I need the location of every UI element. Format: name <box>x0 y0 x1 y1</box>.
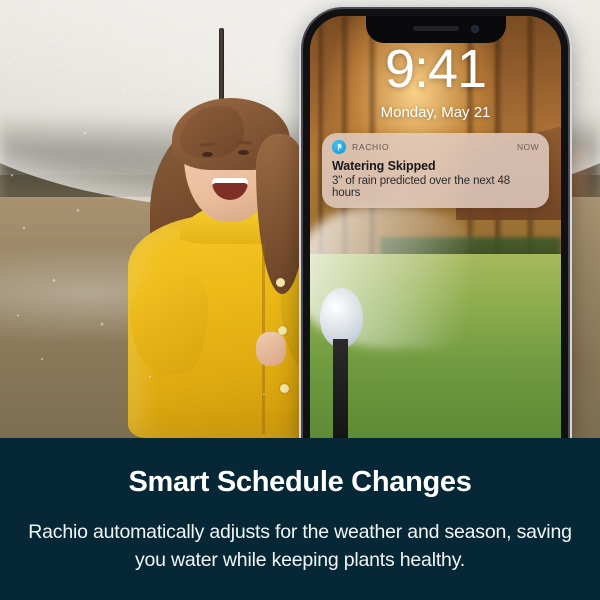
phone-notch <box>366 16 506 43</box>
lockscreen-date: Monday, May 21 <box>310 104 561 121</box>
notification-body: 3" of rain predicted over the next 48 ho… <box>332 175 539 199</box>
earpiece-speaker-icon <box>413 26 459 31</box>
coat-button <box>276 278 285 287</box>
rachio-droplet-icon <box>332 140 346 154</box>
footer-panel: Smart Schedule Changes Rachio automatica… <box>0 438 600 600</box>
notification-title: Watering Skipped <box>332 159 539 173</box>
promo-card: 9:41 Monday, May 21 RACHIO NOW Watering … <box>0 0 600 600</box>
lockscreen-time: 9:41 <box>310 42 561 96</box>
left-sleeve <box>130 274 208 374</box>
footer-title: Smart Schedule Changes <box>128 466 471 499</box>
eye-right <box>238 150 249 155</box>
phone-screen[interactable]: 9:41 Monday, May 21 RACHIO NOW Watering … <box>310 16 561 441</box>
coat-button <box>280 384 289 393</box>
front-camera-icon <box>471 25 479 33</box>
lamp-post <box>333 339 348 441</box>
notification-card[interactable]: RACHIO NOW Watering Skipped 3" of rain p… <box>322 133 549 208</box>
footer-body: Rachio automatically adjusts for the wea… <box>28 519 573 574</box>
notification-header: RACHIO NOW <box>332 140 539 154</box>
phone-mockup: 9:41 Monday, May 21 RACHIO NOW Watering … <box>303 9 568 441</box>
hand-lower <box>256 332 286 366</box>
notification-timestamp: NOW <box>517 142 539 152</box>
eye-left <box>202 152 213 157</box>
notification-app-name: RACHIO <box>352 142 389 152</box>
